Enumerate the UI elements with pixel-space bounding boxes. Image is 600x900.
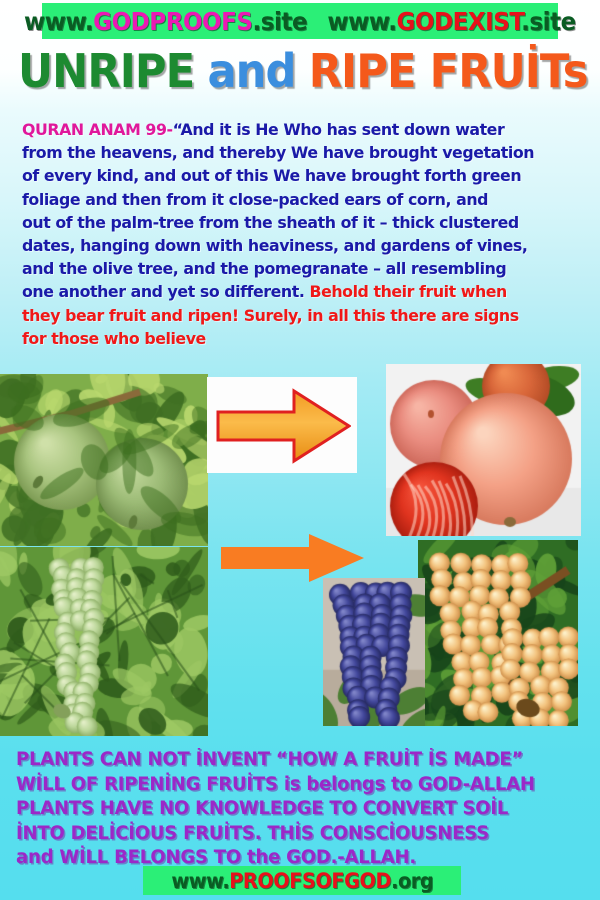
verse-line-3: foliage and then from it close-packed ea… <box>22 188 585 211</box>
bottom-line-0: PLANTS CAN NOT İNVENT “HOW A FRUİT İS MA… <box>16 748 600 773</box>
bottom-site-tld: .org <box>391 869 433 893</box>
verse-highlight-1: they bear fruit and ripen! Surely, in al… <box>22 304 585 327</box>
verse-reference: QURAN ANAM 99- <box>22 120 173 139</box>
title-word-and: and <box>207 44 295 98</box>
verse-line-7-text: one another and yet so different. <box>22 282 304 301</box>
site1-prefix: www. <box>24 7 93 36</box>
verse-line-2: of every kind, and out of this We have b… <box>22 164 585 187</box>
verse-line-4: out of the palm-tree from the sheath of … <box>22 211 585 234</box>
bottom-line-3: İNTO DELİCİOUS FRUİTS. THİS CONSCİOUSNES… <box>16 822 600 847</box>
page-title: UNRIPEandRIPE FRUİTs <box>18 44 554 94</box>
site1-tld: .site <box>253 7 308 36</box>
bottom-line-2: PLANTS HAVE NO KNOWLEDGE TO CONVERT SOİL <box>16 797 600 822</box>
quran-verse-block: QURAN ANAM 99-“And it is He Who has sent… <box>22 118 585 350</box>
ripe-golden-grapes-photo <box>418 540 578 726</box>
site2-name: GODEXIST <box>397 7 522 36</box>
verse-line-0: QURAN ANAM 99-“And it is He Who has sent… <box>22 118 585 141</box>
verse-line-5: dates, hanging down with heaviness, and … <box>22 234 585 257</box>
site2-prefix: www. <box>327 7 396 36</box>
verse-line-0-text: “And it is He Who has sent down water <box>173 120 505 139</box>
unripe-green-fruits-photo <box>0 374 208 546</box>
verse-highlight-0: Behold their fruit when <box>309 282 506 301</box>
ripe-blue-grapes-photo <box>323 578 425 726</box>
unripe-green-grapes-photo <box>0 547 208 736</box>
bottom-banner-text: www.PROOFSOFGOD.org <box>171 869 433 893</box>
bottom-line-1: WİLL OF RIPENİNG FRUİTS is belongs to GO… <box>16 773 600 798</box>
bottom-website-banner: www.PROOFSOFGOD.org <box>143 866 461 895</box>
verse-highlight-2: for those who believe <box>22 327 585 350</box>
title-word-unripe: UNRIPE <box>18 44 194 98</box>
verse-line-6: and the olive tree, and the pomegranate … <box>22 257 585 280</box>
top-website-banner: www.GODPROOFS.sitewww.GODEXIST.site <box>42 3 558 39</box>
transformation-arrow-top <box>216 388 351 464</box>
site2-tld: .site <box>521 7 576 36</box>
title-word-ripe-fruits: RIPE FRUİTs <box>309 44 588 98</box>
transformation-arrow-bottom <box>221 534 364 582</box>
bottom-site-name: PROOFSOFGOD <box>229 869 391 893</box>
verse-line-1: from the heavens, and thereby We have br… <box>22 141 585 164</box>
top-banner-text: www.GODPROOFS.sitewww.GODEXIST.site <box>24 7 576 36</box>
bottom-message-block: PLANTS CAN NOT İNVENT “HOW A FRUİT İS MA… <box>16 748 600 871</box>
bottom-site-prefix: www. <box>171 869 229 893</box>
verse-line-7: one another and yet so different. Behold… <box>22 280 585 303</box>
ripe-persimmons-photo <box>386 364 581 536</box>
site1-name: GODPROOFS <box>93 7 252 36</box>
poster-root: www.GODPROOFS.sitewww.GODEXIST.site UNRI… <box>0 0 600 900</box>
